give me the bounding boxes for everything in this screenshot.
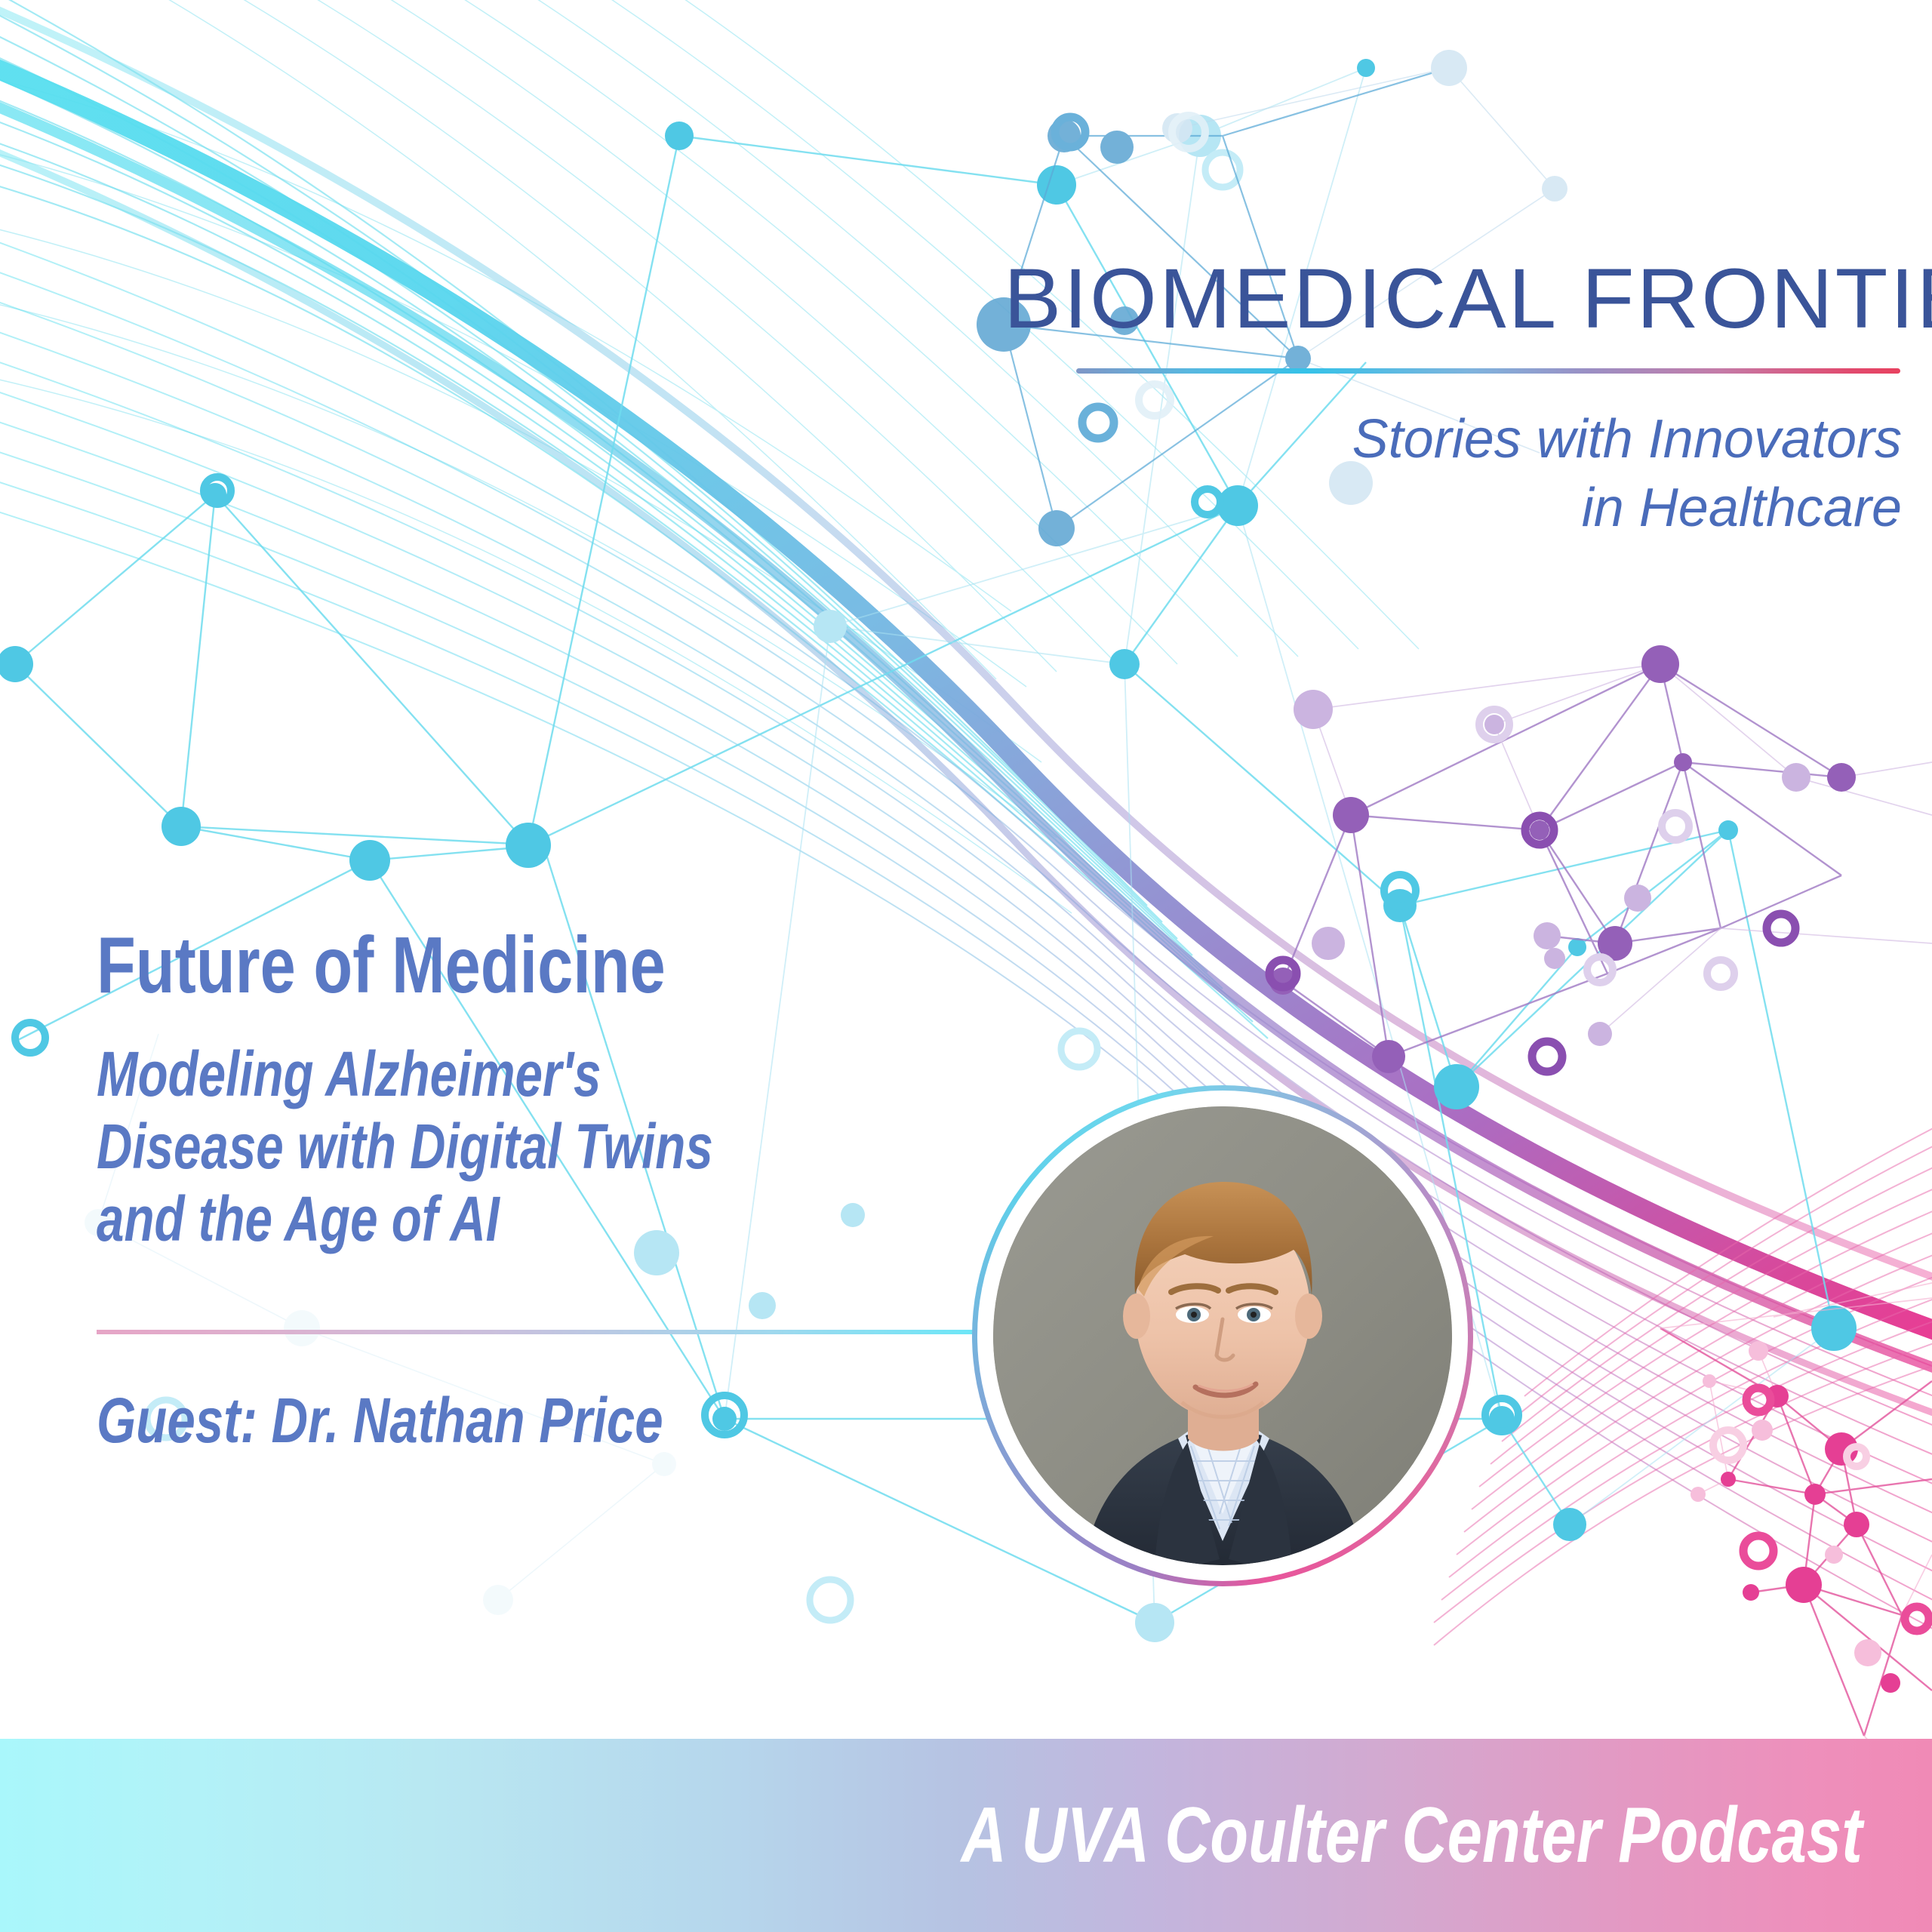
tagline-line-1: Stories with Innovators [1004,405,1902,474]
episode-text-block: Future of Medicine Modeling Alzheimer's … [97,925,942,1255]
episode-series-title: Future of Medicine [97,925,773,1005]
ribbon-magenta-arcs [1434,1106,1932,1645]
episode-guest-credit: Guest: Dr. Nathan Price [97,1389,663,1452]
episode-subtitle-line-2: Disease with Digital Twins [97,1111,756,1183]
podcast-wordmark: BIOMEDICAL FRONTIERS [1004,257,1920,341]
guest-photo [972,1085,1473,1586]
podcast-logo-block: BIOMEDICAL FRONTIERS Stories with Innova… [1004,257,1902,542]
episode-subtitle: Modeling Alzheimer's Disease with Digita… [97,1038,756,1255]
episode-subtitle-line-3: and the Age of AI [97,1183,756,1256]
network-purple-right [1269,645,1932,1073]
episode-subtitle-line-1: Modeling Alzheimer's [97,1038,756,1111]
episode-gradient-divider [97,1330,1063,1334]
podcast-tagline: Stories with Innovators in Healthcare [1004,405,1902,542]
guest-headshot-image [993,1106,1452,1565]
banner-podcast-credit: A UVA Coulter Center Podcast [961,1796,1863,1875]
bottom-banner: A UVA Coulter Center Podcast [0,1739,1932,1932]
podcast-cover-art: BIOMEDICAL FRONTIERS Stories with Innova… [0,0,1932,1932]
logo-gradient-divider [1076,368,1900,374]
tagline-line-2: in Healthcare [1004,474,1902,543]
